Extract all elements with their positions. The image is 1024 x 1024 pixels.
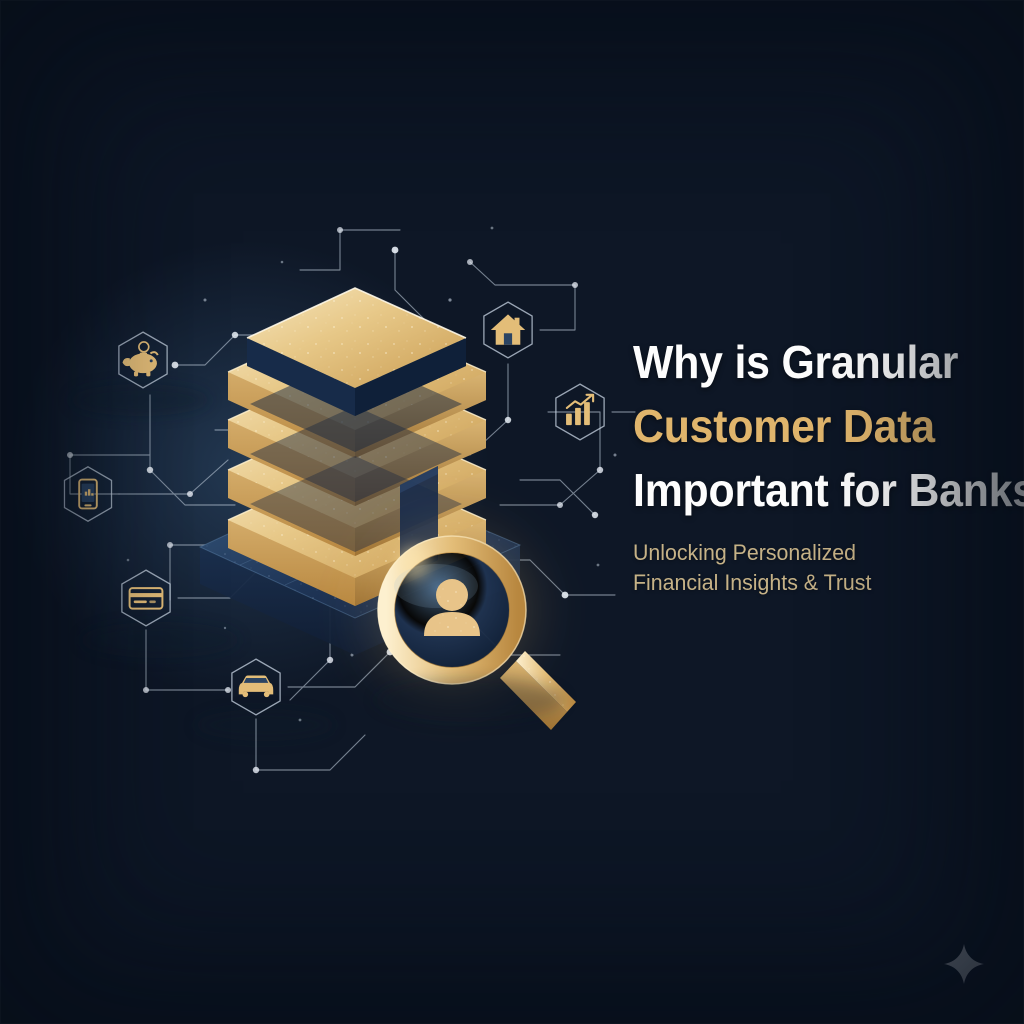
subtitle-line-2: Financial Insights & Trust xyxy=(633,568,1002,598)
hex-icon-house[interactable] xyxy=(484,302,532,358)
four-point-sparkle-icon xyxy=(944,944,984,984)
banner-canvas: Why is Granular Customer Data Important … xyxy=(0,0,1024,1024)
ambient-shadow-3 xyxy=(195,709,335,741)
sparkle-watermark xyxy=(942,942,986,986)
headline-line-3: Important for Banks xyxy=(633,458,986,522)
subtitle-block: Unlocking Personalized Financial Insight… xyxy=(633,538,1013,598)
ambient-shadow-2 xyxy=(80,622,240,658)
headline-line-2: Customer Data xyxy=(633,394,986,458)
headline-line-1: Why is Granular xyxy=(633,330,986,394)
magnifier-shadow xyxy=(375,678,565,722)
ambient-shadow-1 xyxy=(70,384,210,416)
headline-block: Why is Granular Customer Data Important … xyxy=(633,330,1013,598)
hero-illustration xyxy=(0,0,640,1024)
subtitle-line-1: Unlocking Personalized xyxy=(633,538,1002,568)
